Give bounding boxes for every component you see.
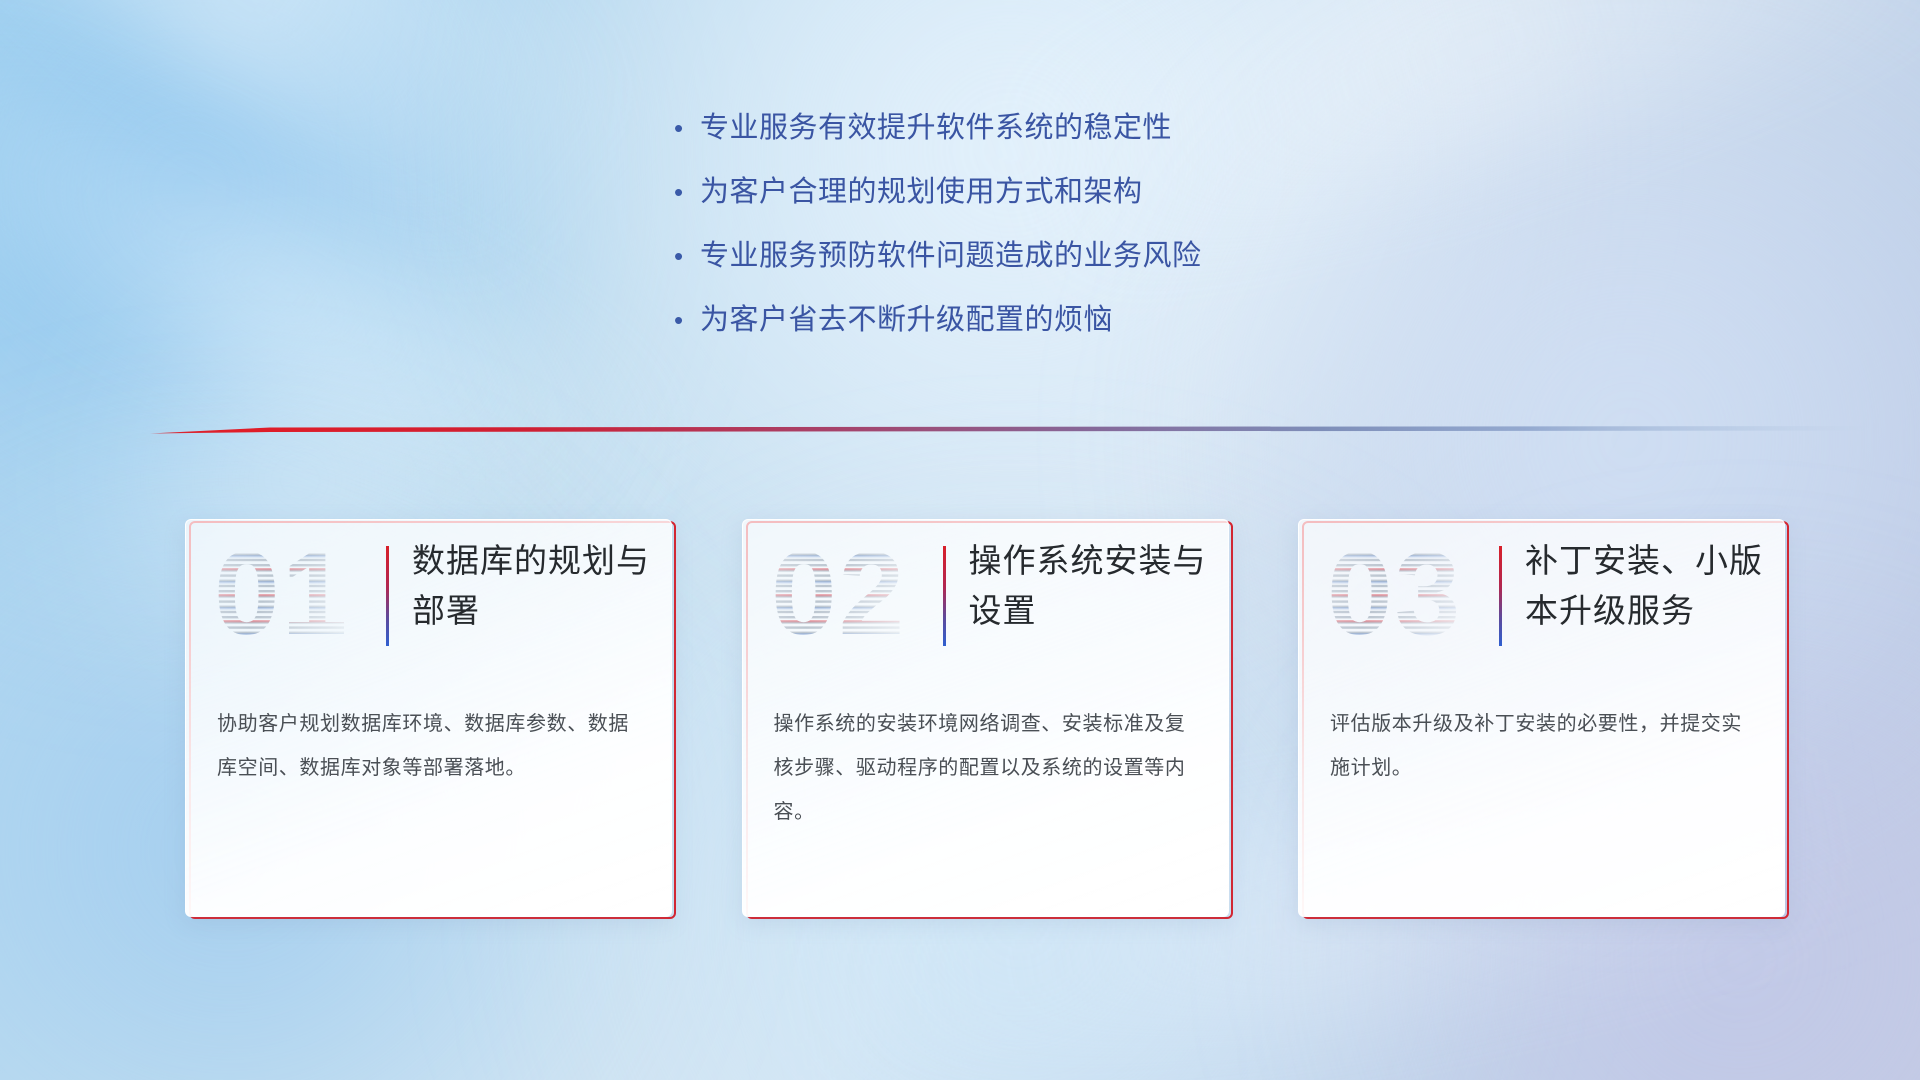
card-title-rule xyxy=(386,546,389,646)
list-item: • 为客户合理的规划使用方式和架构 xyxy=(672,172,1432,236)
list-item: • 专业服务预防软件问题造成的业务风险 xyxy=(672,236,1432,300)
svg-text:01: 01 xyxy=(214,538,349,656)
service-card[interactable]: 01 01 01 数据库的规划与部署 协助客户规划数据库环境、数据库 xyxy=(185,519,672,917)
service-card-list: 01 01 01 数据库的规划与部署 协助客户规划数据库环境、数据库 xyxy=(185,519,1785,919)
bullet-point-icon: • xyxy=(672,108,700,148)
benefits-bullet-list: • 专业服务有效提升软件系统的稳定性 • 为客户合理的规划使用方式和架构 • 专… xyxy=(672,108,1432,364)
card-description: 操作系统的安装环境网络调查、安装标准及复核步骤、驱动程序的配置以及系统的设置等内… xyxy=(774,702,1194,834)
card-surface: 02 02 操作系统安装与设置 操作系统的安装环境网络调查、安装标准及复核步骤、… xyxy=(742,519,1229,917)
section-divider xyxy=(150,420,1870,440)
svg-text:03: 03 xyxy=(1327,538,1462,656)
card-description: 评估版本升级及补丁安装的必要性，并提交实施计划。 xyxy=(1330,702,1750,790)
svg-text:02: 02 xyxy=(771,538,906,656)
list-item: • 为客户省去不断升级配置的烦恼 xyxy=(672,300,1432,364)
card-surface: 03 03 补丁安装、小版本升级服务 评估版本升级及补丁安装的必要性，并提交实施… xyxy=(1298,519,1785,917)
card-header: 02 02 操作系统安装与设置 xyxy=(743,520,1228,670)
card-title: 数据库的规划与部署 xyxy=(412,536,652,636)
bullet-point-icon: • xyxy=(672,236,700,276)
bullet-text: 为客户合理的规划使用方式和架构 xyxy=(700,172,1143,212)
card-title: 操作系统安装与设置 xyxy=(969,536,1209,636)
card-number-striped-icon: 02 02 xyxy=(771,538,921,656)
service-card[interactable]: 03 03 补丁安装、小版本升级服务 评估版本升级及补丁安装的必要性，并提交实施… xyxy=(1298,519,1785,917)
service-card[interactable]: 02 02 操作系统安装与设置 操作系统的安装环境网络调查、安装标准及复核步骤、… xyxy=(742,519,1229,917)
card-surface: 01 01 01 数据库的规划与部署 协助客户规划数据库环境、数据库 xyxy=(185,519,672,917)
card-number-striped-icon: 01 01 01 xyxy=(214,538,364,656)
bullet-text: 为客户省去不断升级配置的烦恼 xyxy=(700,300,1113,340)
card-title-rule xyxy=(943,546,946,646)
svg-text:02: 02 xyxy=(771,538,906,656)
bullet-point-icon: • xyxy=(672,300,700,340)
card-number-striped-icon: 03 03 xyxy=(1327,538,1477,656)
bullet-point-icon: • xyxy=(672,172,700,212)
bullet-text: 专业服务有效提升软件系统的稳定性 xyxy=(700,108,1172,148)
svg-text:03: 03 xyxy=(1327,538,1462,656)
card-description: 协助客户规划数据库环境、数据库参数、数据库空间、数据库对象等部署落地。 xyxy=(217,702,637,790)
list-item: • 专业服务有效提升软件系统的稳定性 xyxy=(672,108,1432,172)
svg-text:01: 01 xyxy=(214,538,349,656)
card-header: 03 03 补丁安装、小版本升级服务 xyxy=(1299,520,1784,670)
bullet-text: 专业服务预防软件问题造成的业务风险 xyxy=(700,236,1202,276)
card-title: 补丁安装、小版本升级服务 xyxy=(1525,536,1765,636)
card-header: 01 01 01 数据库的规划与部署 xyxy=(186,520,671,670)
card-title-rule xyxy=(1499,546,1502,646)
